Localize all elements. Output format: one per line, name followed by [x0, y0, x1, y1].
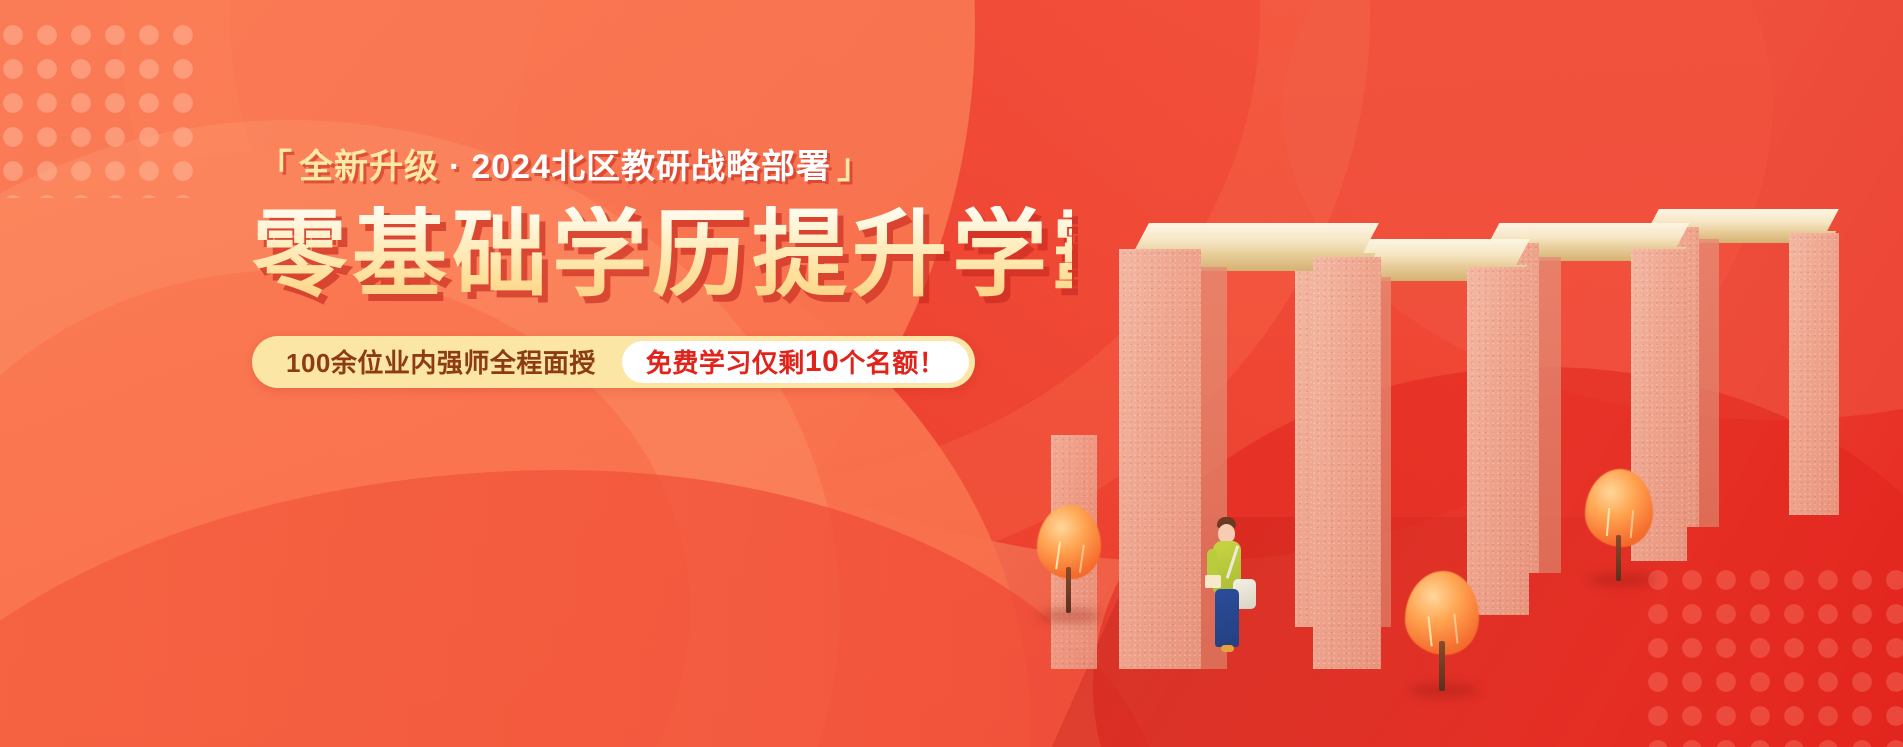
bracket-close: 」	[837, 150, 872, 184]
seats-remaining-badge[interactable]: 免费学习仅剩10个名额！	[622, 341, 969, 383]
subtitle-white-text: 2024北区教研战略部署	[471, 150, 831, 184]
promo-banner: 「 全新升级 · 2024北区教研战略部署 」 零基础学历提升学霸班 100余位…	[0, 0, 1903, 747]
seats-count: 10	[805, 345, 839, 379]
tree-mid-icon	[1403, 571, 1483, 701]
highlight-pill: 100余位业内强师全程面授 免费学习仅剩10个名额！	[252, 336, 975, 388]
headline-block: 「 全新升级 · 2024北区教研战略部署 」 零基础学历提升学霸班 100余位…	[252, 150, 1072, 388]
subtitle-separator: ·	[449, 150, 461, 184]
seats-suffix: 个名额！	[839, 343, 945, 380]
subtitle-gold-text: 全新升级	[299, 150, 439, 184]
seats-prefix: 免费学习仅剩	[646, 343, 805, 380]
tree-left-icon	[1035, 505, 1105, 625]
tree-right-icon	[1583, 469, 1657, 589]
bracket-open: 「	[258, 150, 293, 184]
dot-grid-top-left-icon	[0, 18, 206, 198]
banner-subtitle: 「 全新升级 · 2024北区教研战略部署 」	[252, 150, 1072, 184]
student-figure-icon	[1205, 517, 1275, 677]
pill-left-label: 100余位业内强师全程面授	[286, 343, 622, 380]
page-title: 零基础学历提升学霸班	[252, 206, 1072, 306]
